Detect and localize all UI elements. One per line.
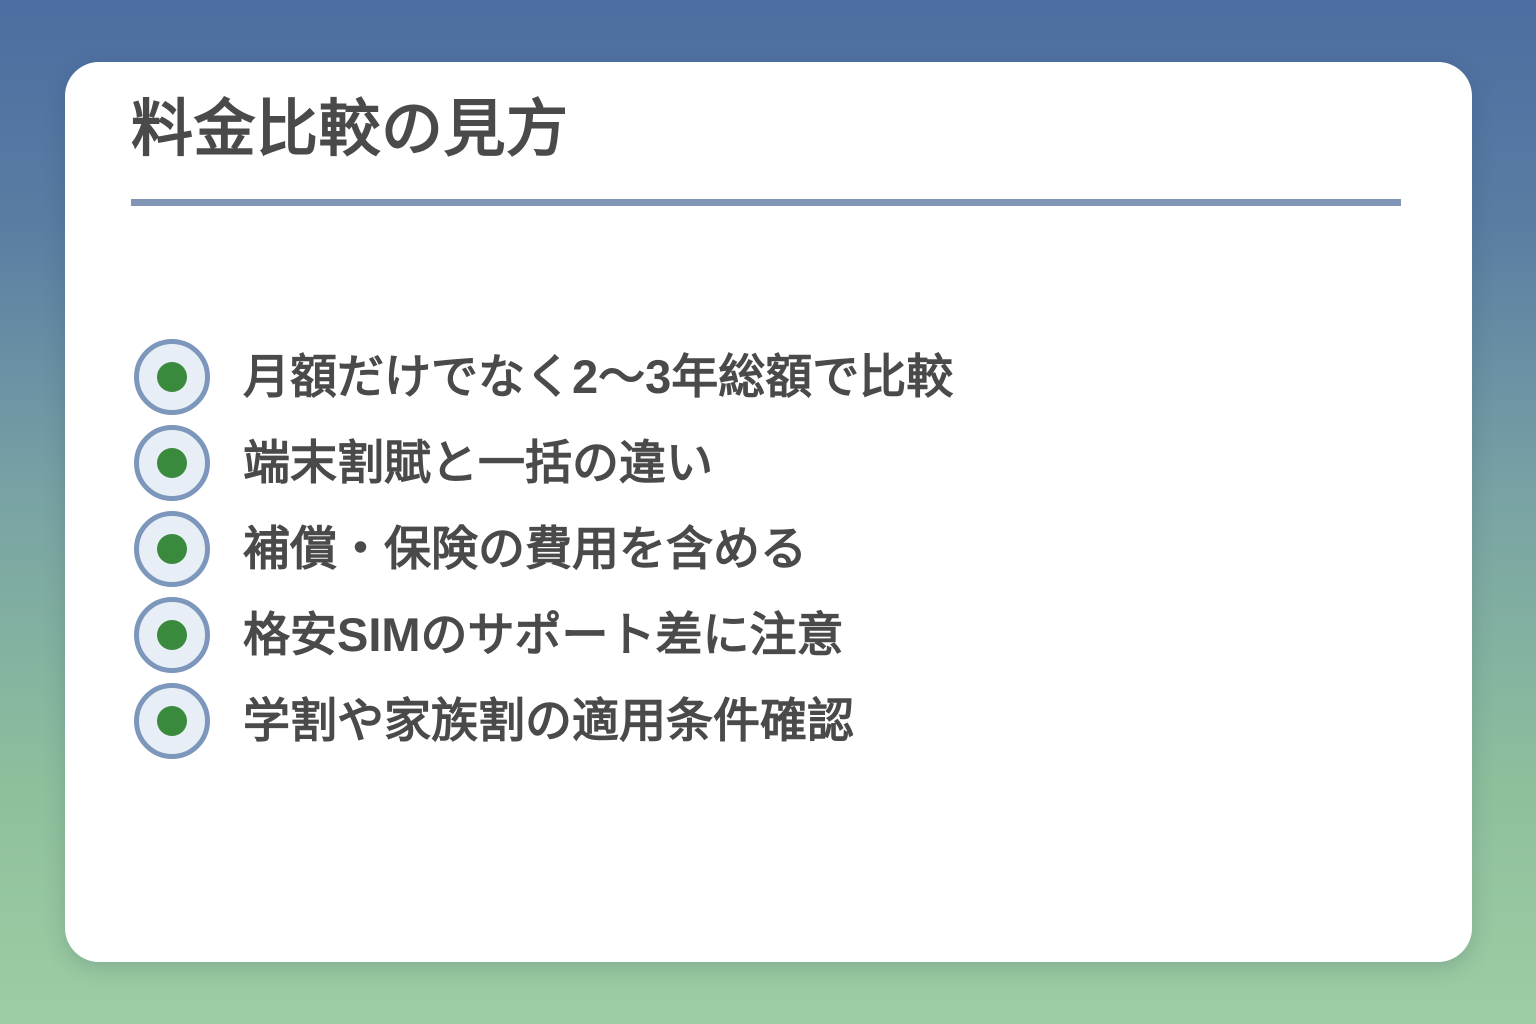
list-item-label: 学割や家族割の適用条件確認 bbox=[243, 691, 854, 751]
bullet-dot-icon bbox=[157, 362, 187, 392]
title-divider bbox=[131, 199, 1401, 206]
filled-circle-bullet-icon bbox=[134, 511, 210, 587]
bullet-list: 月額だけでなく2〜3年総額で比較 端末割賦と一括の違い 補償・保険の費用を含める… bbox=[131, 334, 1411, 764]
list-item: 補償・保険の費用を含める bbox=[131, 506, 1411, 592]
filled-circle-bullet-icon bbox=[134, 339, 210, 415]
filled-circle-bullet-icon bbox=[134, 683, 210, 759]
bullet-dot-icon bbox=[157, 706, 187, 736]
bullet-dot-icon bbox=[157, 448, 187, 478]
content-card: 料金比較の見方 月額だけでなく2〜3年総額で比較 端末割賦と一括の違い 補償・ bbox=[65, 62, 1472, 962]
list-item-label: 月額だけでなく2〜3年総額で比較 bbox=[243, 347, 953, 407]
list-item: 格安SIMのサポート差に注意 bbox=[131, 592, 1411, 678]
list-item: 学割や家族割の適用条件確認 bbox=[131, 678, 1411, 764]
list-item: 端末割賦と一括の違い bbox=[131, 420, 1411, 506]
list-item-label: 格安SIMのサポート差に注意 bbox=[243, 605, 844, 665]
bullet-dot-icon bbox=[157, 534, 187, 564]
bullet-dot-icon bbox=[157, 620, 187, 650]
filled-circle-bullet-icon bbox=[134, 597, 210, 673]
slide-background: 料金比較の見方 月額だけでなく2〜3年総額で比較 端末割賦と一括の違い 補償・ bbox=[0, 0, 1536, 1024]
page-title: 料金比較の見方 bbox=[131, 90, 569, 170]
list-item-label: 端末割賦と一括の違い bbox=[243, 433, 713, 493]
list-item-label: 補償・保険の費用を含める bbox=[243, 519, 807, 579]
filled-circle-bullet-icon bbox=[134, 425, 210, 501]
list-item: 月額だけでなく2〜3年総額で比較 bbox=[131, 334, 1411, 420]
